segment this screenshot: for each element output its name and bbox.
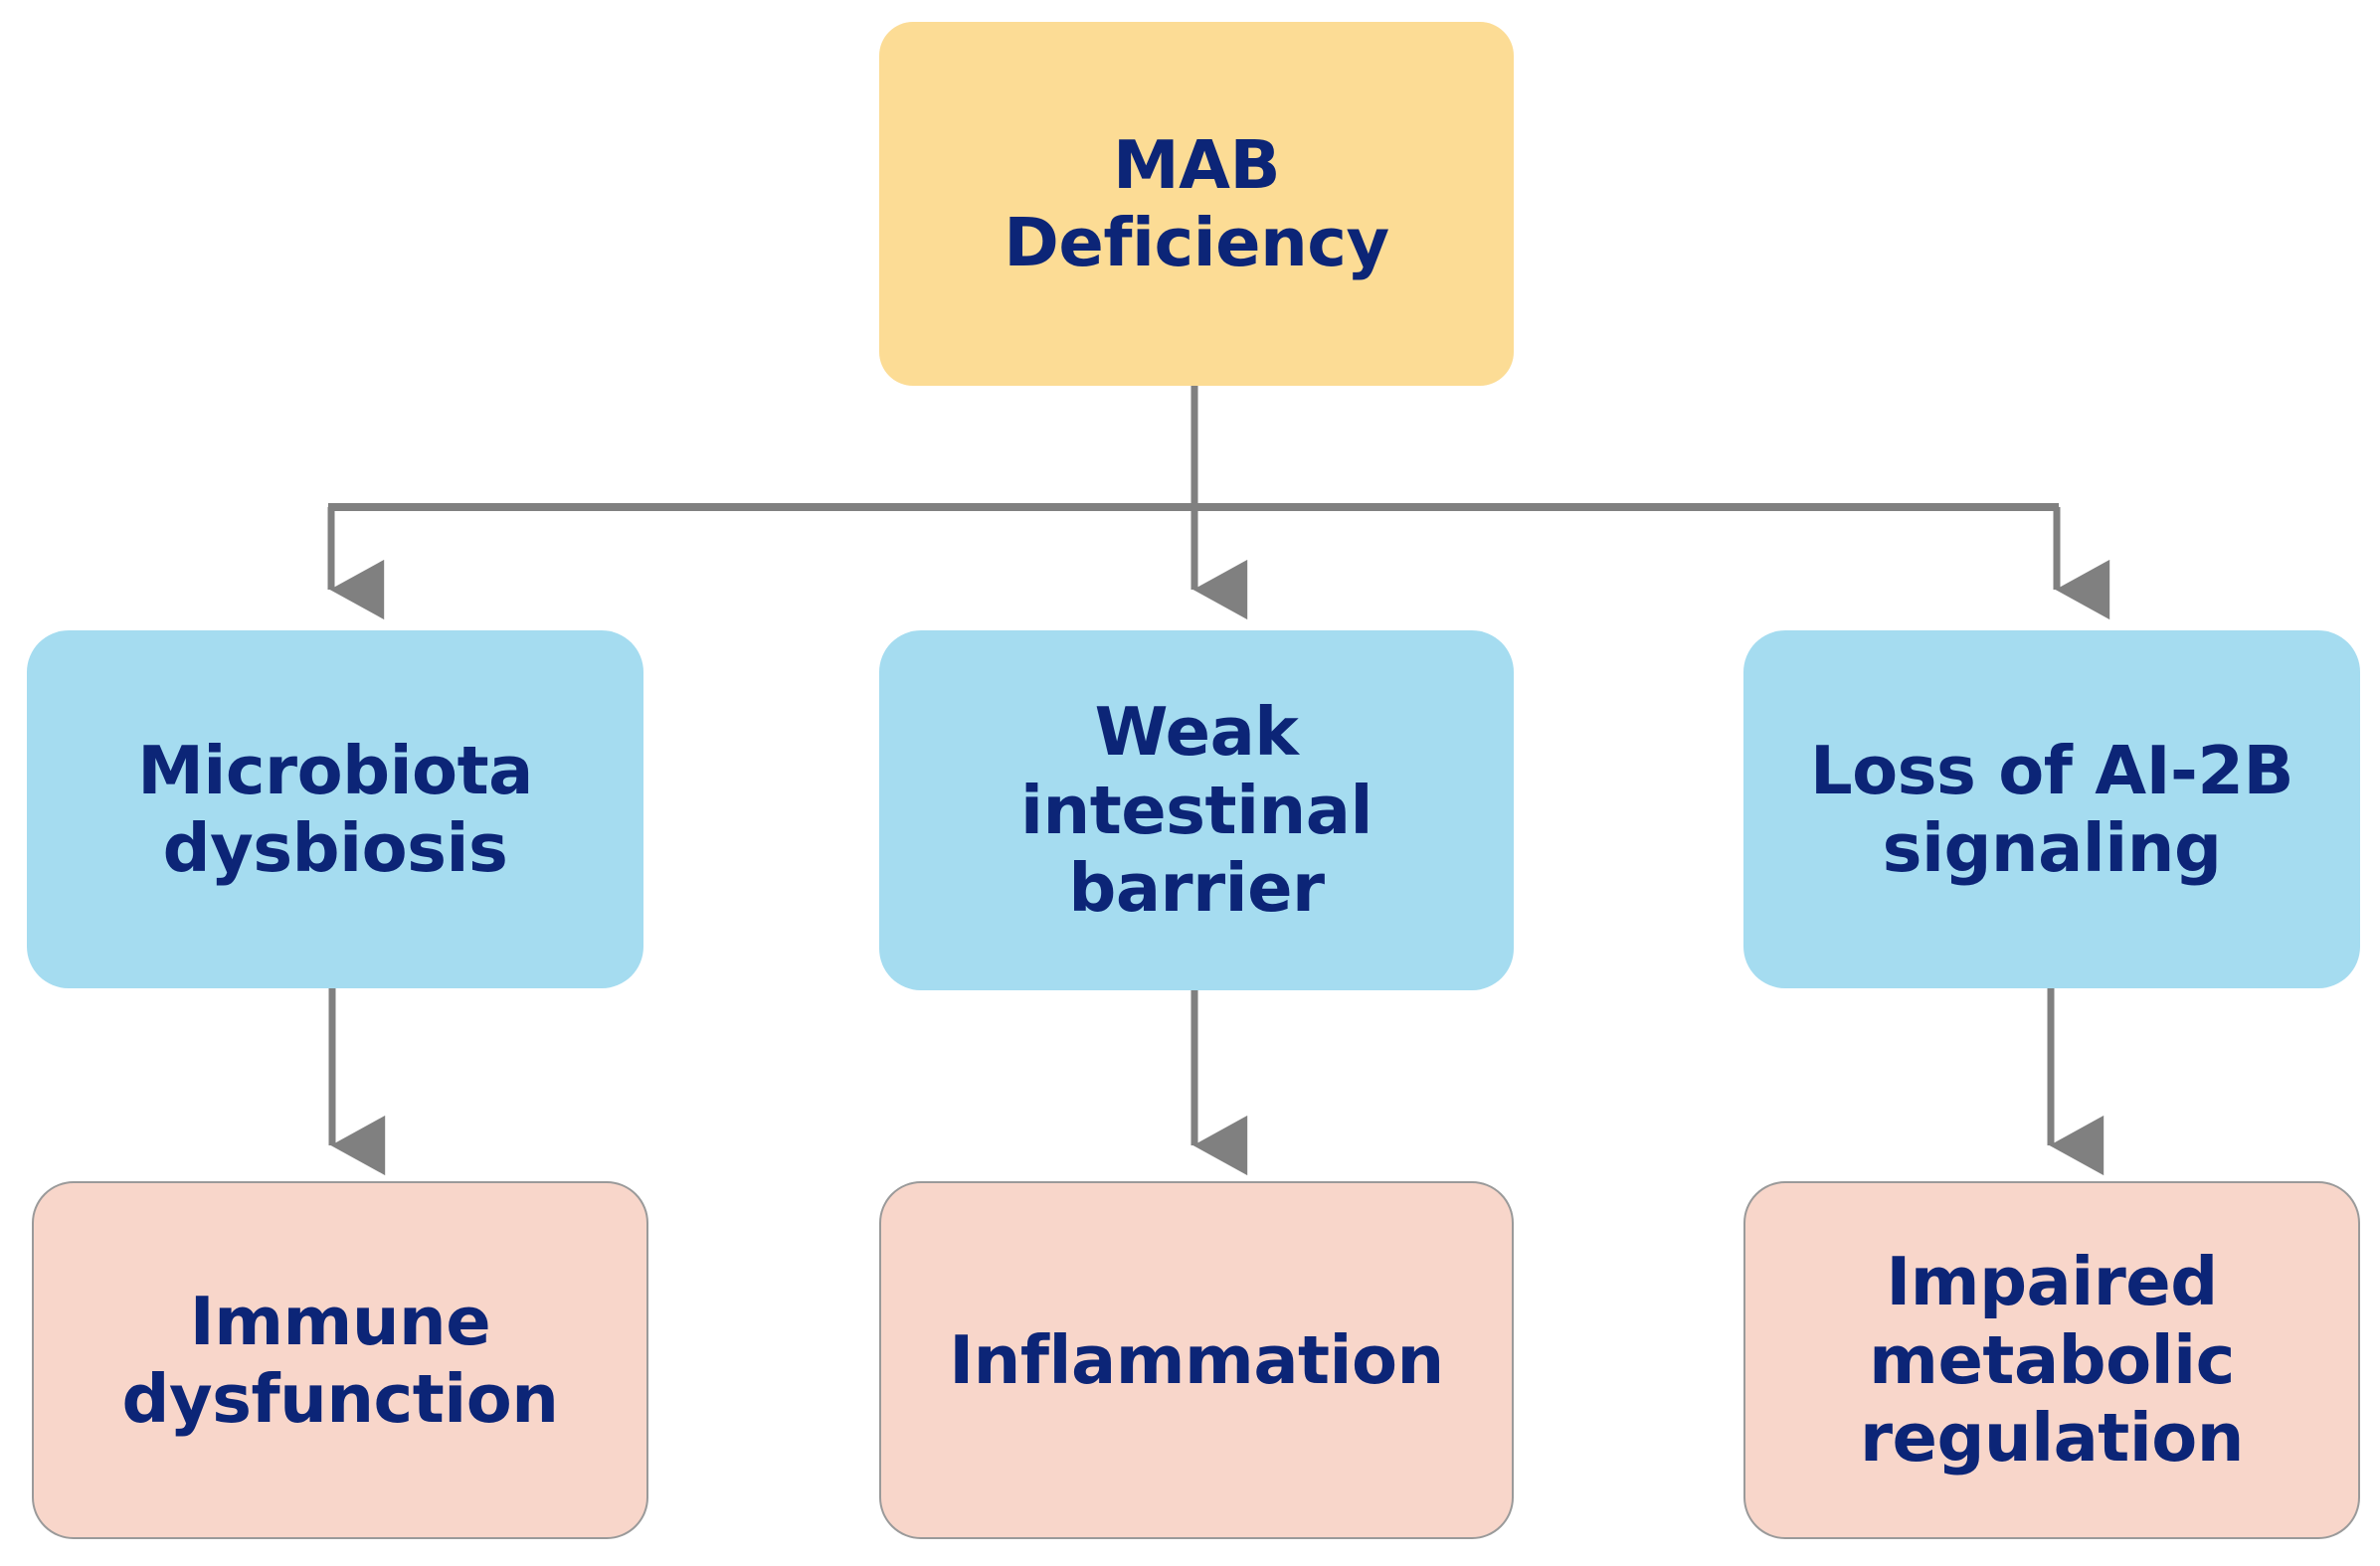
- node-inflammation: Inflammation: [879, 1181, 1514, 1539]
- node-label: Loss of AI-2B signaling: [1810, 732, 2293, 888]
- node-label: Impaired metabolic regulation: [1860, 1243, 2244, 1477]
- node-label: MAB Deficiency: [1004, 126, 1388, 282]
- node-impaired-metabolic-regulation: Impaired metabolic regulation: [1743, 1181, 2360, 1539]
- node-label: Immune dysfunction: [122, 1283, 559, 1439]
- node-mab-deficiency: MAB Deficiency: [879, 22, 1514, 386]
- node-weak-intestinal-barrier: Weak intestinal barrier: [879, 630, 1514, 990]
- node-label: Inflammation: [949, 1321, 1444, 1399]
- node-label: Microbiota dysbiosis: [137, 732, 533, 888]
- node-loss-of-ai2b-signaling: Loss of AI-2B signaling: [1743, 630, 2360, 988]
- node-microbiota-dysbiosis: Microbiota dysbiosis: [27, 630, 643, 988]
- flowchart-canvas: MAB Deficiency Microbiota dysbiosis Weak…: [0, 0, 2380, 1566]
- node-label: Weak intestinal barrier: [1020, 693, 1373, 927]
- node-immune-dysfunction: Immune dysfunction: [32, 1181, 648, 1539]
